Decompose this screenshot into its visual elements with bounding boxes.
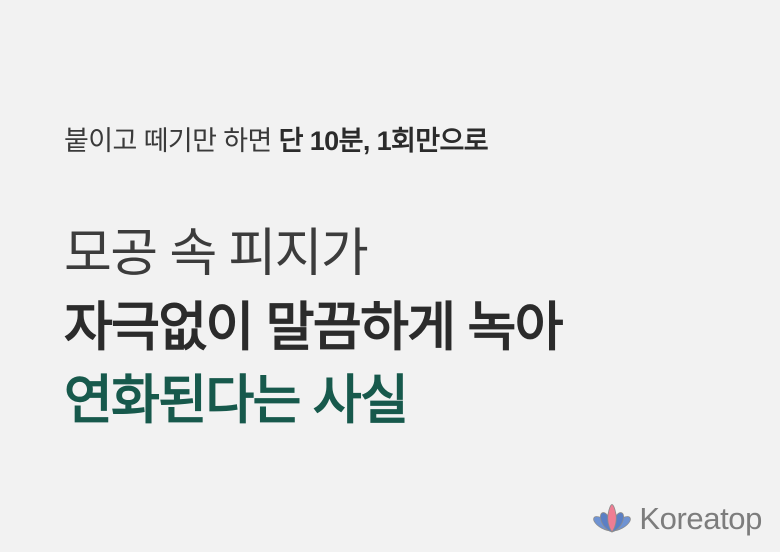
promo-banner: 붙이고 떼기만 하면 단 10분, 1회만으로 모공 속 피지가 자극없이 말끔… [0, 0, 780, 552]
headline-line-1: 모공 속 피지가 [64, 218, 724, 291]
kicker-line: 붙이고 떼기만 하면 단 10분, 1회만으로 [64, 120, 488, 162]
brand-logo[interactable]: Koreatop [592, 496, 762, 542]
headline-line-2: 자극없이 말끔하게 녹아 [64, 291, 724, 364]
kicker-strong-text: 단 10분, 1회만으로 [279, 126, 488, 156]
kicker-regular-text: 붙이고 떼기만 하면 [64, 126, 279, 156]
headline-line-3: 연화된다는 사실 [64, 364, 724, 437]
brand-name-label: Koreatop [639, 502, 762, 536]
lotus-flower-icon [592, 502, 632, 536]
headline-block: 모공 속 피지가 자극없이 말끔하게 녹아 연화된다는 사실 [64, 218, 724, 437]
